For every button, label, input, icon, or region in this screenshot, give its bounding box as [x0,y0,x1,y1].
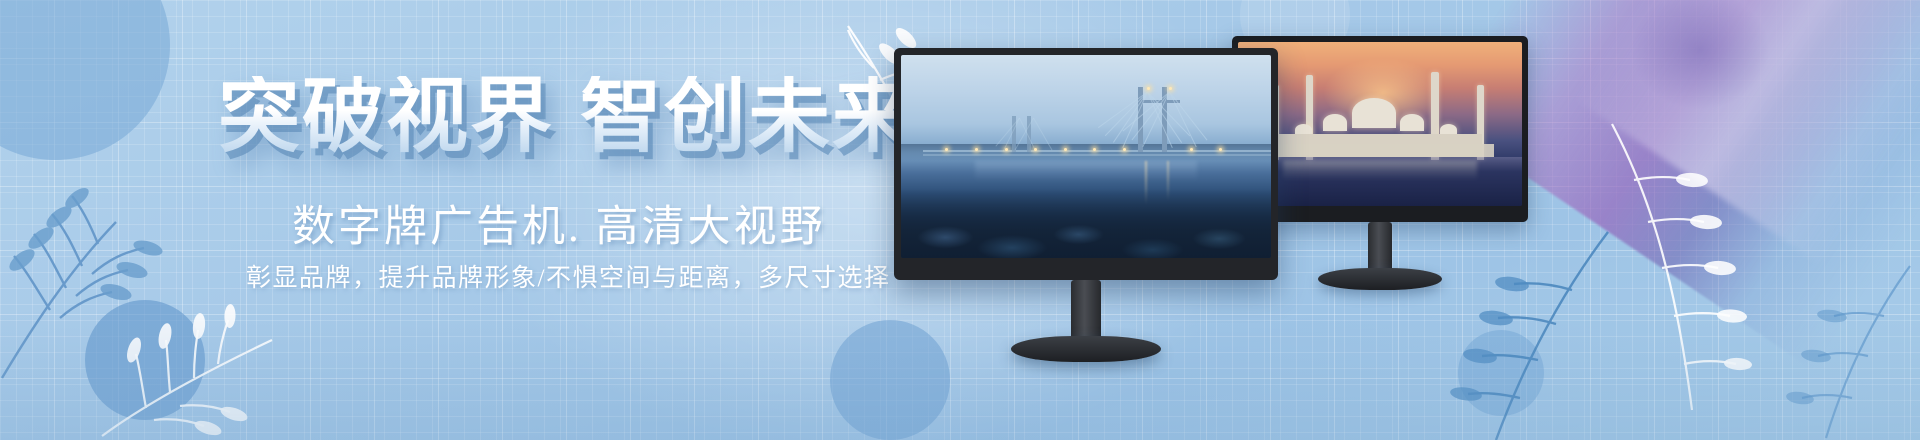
monitor-front-stand-neck [1071,280,1101,342]
monitor-back-screen [1238,42,1522,206]
monitor-front-stand-base [1011,336,1161,362]
text-content: 突破视界智创未来 数字牌广告机. 高清大视野 彰显品牌，提升品牌形象/不惧空间与… [0,0,900,440]
promo-banner: 突破视界智创未来 数字牌广告机. 高清大视野 彰显品牌，提升品牌形象/不惧空间与… [0,0,1920,440]
monitor-front: AOC [894,48,1278,348]
monitor-front-bezel [894,48,1278,280]
headline-part-1: 突破视界 [218,71,554,162]
monitor-back-stand-base [1318,268,1442,290]
monitor-back-stand-neck [1368,222,1392,274]
monitor-front-screen [901,55,1271,258]
tagline: 彰显品牌，提升品牌形象/不惧空间与距离，多尺寸选择 [246,258,890,294]
headline-part-2: 智创未来 [580,71,916,162]
subtitle: 数字牌广告机. 高清大视野 [292,192,826,254]
page-title: 突破视界智创未来 [218,76,916,158]
product-images: AOC [880,0,1920,440]
